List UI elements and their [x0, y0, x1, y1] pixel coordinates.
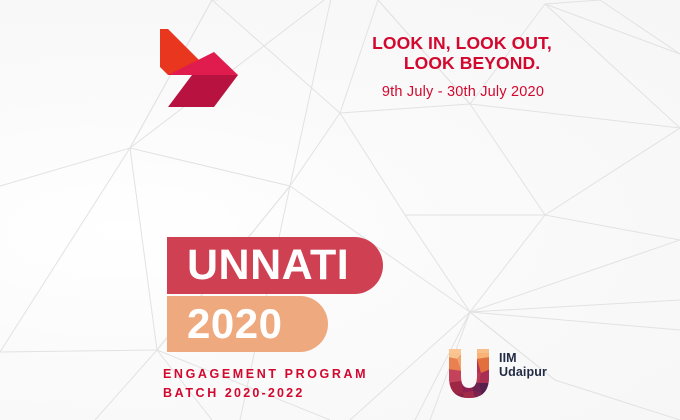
- iim-name-line-2: Udaipur: [499, 365, 547, 379]
- subtitle-batch-years: 2020-2022: [225, 386, 305, 400]
- poster-canvas: LOOK IN, LOOK OUT, LOOK BEYOND. 9th July…: [0, 0, 680, 420]
- subtitle-line-program: ENGAGEMENT PROGRAM: [163, 365, 368, 384]
- title-bar-year: 2020: [167, 296, 328, 352]
- headline-line-1: LOOK IN, LOOK OUT,: [358, 33, 566, 53]
- subtitle-batch-label: BATCH: [163, 386, 225, 400]
- title-year-text: 2020: [187, 303, 282, 345]
- iim-udaipur-u-mark-icon: [447, 347, 491, 399]
- title-bar-unnati: UNNATI: [167, 237, 383, 294]
- iim-udaipur-logo-lockup: IIM Udaipur: [447, 347, 547, 399]
- headline-line-2: LOOK BEYOND.: [378, 53, 566, 73]
- chevron-arrow-logo-icon: [158, 27, 242, 111]
- headline-text: LOOK IN, LOOK OUT, LOOK BEYOND.: [366, 33, 566, 73]
- title-main-text: UNNATI: [187, 244, 349, 287]
- iim-name-line-1: IIM: [499, 351, 547, 365]
- background-polygon-network: [0, 0, 680, 420]
- iim-udaipur-wordmark: IIM Udaipur: [499, 351, 547, 379]
- subtitle-block: ENGAGEMENT PROGRAM BATCH 2020-2022: [163, 365, 368, 403]
- headline-block: LOOK IN, LOOK OUT, LOOK BEYOND. 9th July…: [366, 33, 566, 100]
- event-dates: 9th July - 30th July 2020: [360, 84, 566, 100]
- subtitle-line-batch: BATCH 2020-2022: [163, 384, 368, 403]
